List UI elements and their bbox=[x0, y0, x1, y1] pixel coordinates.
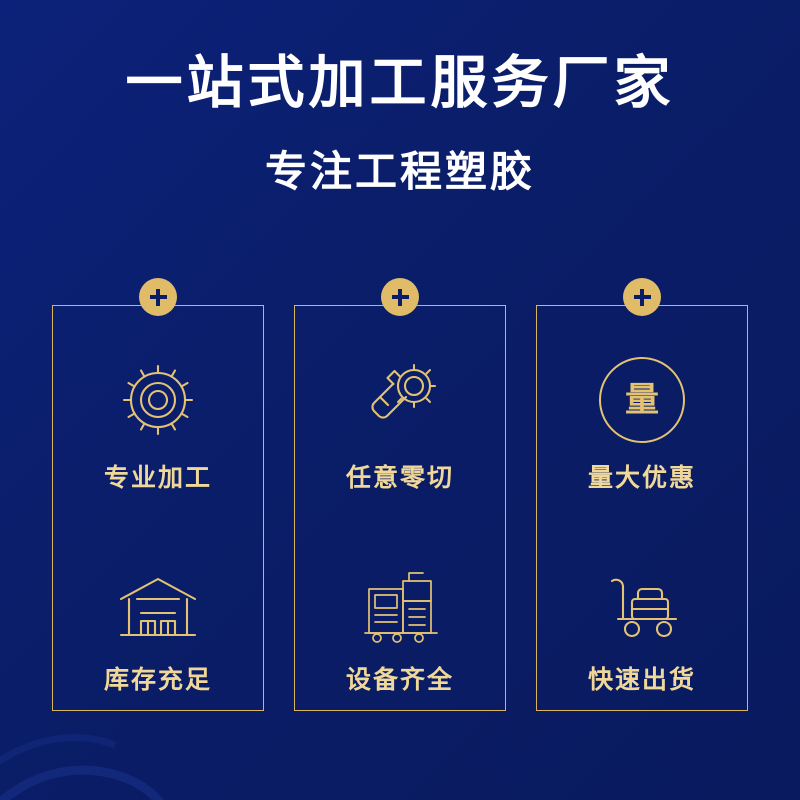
page-subtitle: 专注工程塑胶 bbox=[0, 138, 800, 199]
feature-item: 快速出货 bbox=[588, 564, 696, 696]
feature-card: 量 量大优惠 bbox=[536, 305, 748, 711]
plus-icon bbox=[381, 278, 419, 316]
page-title: 一站式加工服务厂家 bbox=[0, 52, 800, 116]
feature-item: 量 量大优惠 bbox=[588, 354, 696, 494]
feature-label: 专业加工 bbox=[104, 458, 212, 494]
feature-card-list: 专业加工 bbox=[0, 305, 800, 711]
feature-item: 库存充足 bbox=[104, 564, 212, 696]
feature-card: 专业加工 bbox=[52, 305, 264, 711]
volume-glyph: 量 bbox=[625, 383, 659, 417]
delivery-cart-icon bbox=[596, 564, 688, 648]
feature-label: 设备齐全 bbox=[346, 660, 454, 696]
feature-label: 快速出货 bbox=[588, 660, 696, 696]
machine-icon bbox=[354, 564, 446, 648]
plus-icon bbox=[139, 278, 177, 316]
warehouse-icon bbox=[112, 564, 204, 648]
gear-icon bbox=[112, 354, 204, 446]
feature-item: 设备齐全 bbox=[346, 564, 454, 696]
feature-card: 任意零切 bbox=[294, 305, 506, 711]
feature-label: 库存充足 bbox=[104, 660, 212, 696]
feature-item: 任意零切 bbox=[346, 354, 454, 494]
cutting-saw-icon bbox=[354, 354, 446, 446]
plus-icon bbox=[623, 278, 661, 316]
promo-banner: 一站式加工服务厂家 专注工程塑胶 bbox=[0, 0, 800, 800]
volume-circle-icon: 量 bbox=[596, 354, 688, 446]
headline-block: 一站式加工服务厂家 专注工程塑胶 bbox=[0, 52, 800, 199]
feature-label: 任意零切 bbox=[346, 458, 454, 494]
feature-label: 量大优惠 bbox=[588, 458, 696, 494]
feature-item: 专业加工 bbox=[104, 354, 212, 494]
